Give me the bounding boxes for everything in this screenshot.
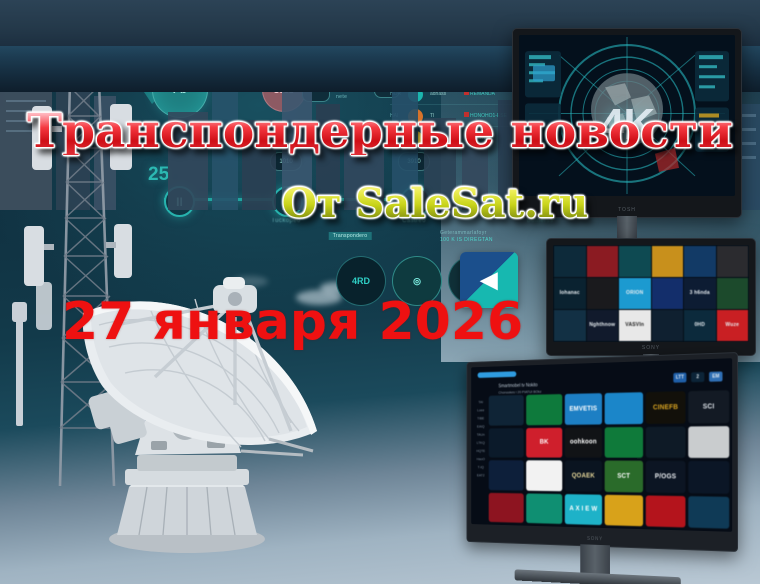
channel-logo-tile[interactable] <box>587 246 619 277</box>
tv-ui-pill <box>478 371 517 378</box>
tv-ui-header: Smartmobel tv Nokito Chonookes i 20 PIAT… <box>474 361 728 393</box>
tv-rail-item[interactable]: EAIQ <box>477 424 485 429</box>
tv-brand-label: SONY <box>642 345 660 351</box>
tv-rail-item[interactable]: HaoO <box>477 457 485 462</box>
tv-mid-display: IohanacORION3 h6ndaNghthnowVASVIn0HDWuze… <box>546 238 756 356</box>
tv-status-icon: EM <box>709 371 722 381</box>
tv-main-display: Smartmobel tv Nokito Chonookes i 20 PIAT… <box>466 352 738 552</box>
channel-logo-tile[interactable] <box>587 278 619 309</box>
channel-logo-tile[interactable]: EMVETIS <box>565 393 602 424</box>
tv-ui-headline: Smartmobel tv Nokito <box>498 383 537 390</box>
tv-brand-label: SONY <box>587 536 603 542</box>
channel-logo-tile[interactable] <box>688 426 729 458</box>
channel-logo-tile[interactable] <box>554 246 586 277</box>
channel-logo-tile[interactable]: 0HD <box>684 310 716 341</box>
channel-logo-tile[interactable] <box>688 496 729 529</box>
channel-logo-grid: IohanacORION3 h6ndaNghthnowVASVIn0HDWuze <box>553 245 749 342</box>
tv-rail-item[interactable]: HQTE <box>476 448 485 453</box>
banner-image: Fb 1012 ● ▲ A-1901-02 LEGIUM nete - 2 - … <box>0 0 760 584</box>
channel-logo-tile[interactable]: VASVIn <box>619 310 651 341</box>
channel-logo-tile[interactable] <box>688 461 729 494</box>
channel-logo-tile[interactable] <box>646 426 686 458</box>
timeline-footnote-1: Geterammarlafoyr <box>440 230 487 236</box>
channel-logo-tile[interactable] <box>605 494 643 526</box>
channel-logo-tile[interactable] <box>652 278 684 309</box>
channel-logo-tile[interactable]: BK <box>526 427 562 457</box>
channel-logo-tile[interactable] <box>652 246 684 277</box>
channel-logo-tile[interactable] <box>652 310 684 341</box>
page-title: Транспондерные новости <box>0 108 760 155</box>
channel-logo-tile[interactable]: ORION <box>619 278 651 309</box>
channel-logo-tile[interactable] <box>526 394 562 425</box>
channel-logo-tile[interactable] <box>489 460 524 490</box>
tv-stand-neck <box>580 544 610 576</box>
tv-rail-item[interactable]: EAT2 <box>477 473 485 478</box>
channel-logo-tile[interactable] <box>605 392 643 424</box>
channel-logo-tile[interactable]: oohkoon <box>565 427 602 458</box>
channel-logo-tile[interactable]: SCI <box>688 390 729 423</box>
tv-rail-item[interactable]: Loee <box>477 408 484 413</box>
channel-logo-tile[interactable] <box>489 395 524 425</box>
tv-status-icon: 2 <box>691 372 704 382</box>
tv-screen: Smartmobel tv Nokito Chonookes i 20 PIAT… <box>471 358 732 532</box>
channel-logo-tile[interactable]: A X I E W <box>565 494 602 525</box>
channel-logo-tile[interactable] <box>605 426 643 457</box>
timeline-footnote-2: 100 K IS DIREGTAN <box>440 237 493 243</box>
tv-status-icon: LTT <box>673 373 686 383</box>
page-subtitle: От SaleSat.ru <box>0 184 760 224</box>
channel-logo-tile[interactable] <box>717 278 749 309</box>
tv-ui-status-icons: LTT 2 EM <box>673 371 722 382</box>
channel-logo-tile[interactable]: CINEFB <box>646 391 686 423</box>
channel-logo-tile[interactable] <box>489 492 524 522</box>
tv-channel-grid: EMVETISCINEFBSCIBKoohkoonQOAEKSCTP/OGSA … <box>489 390 730 529</box>
channel-logo-tile[interactable]: Nghthnow <box>587 310 619 341</box>
channel-logo-tile[interactable]: 3 h6nda <box>684 278 716 309</box>
channel-logo-tile[interactable] <box>646 495 686 528</box>
tv-screen: IohanacORION3 h6ndaNghthnowVASVIn0HDWuze <box>553 245 749 342</box>
channel-logo-tile[interactable] <box>684 246 716 277</box>
channel-logo-tile[interactable] <box>526 460 562 490</box>
tv-rail-item[interactable]: TAUn <box>477 432 485 437</box>
channel-logo-tile[interactable] <box>717 246 749 277</box>
channel-logo-tile[interactable]: Iohanac <box>554 278 586 309</box>
channel-logo-tile[interactable] <box>554 310 586 341</box>
channel-logo-tile[interactable] <box>526 493 562 524</box>
tv-ui-sidebar-rail[interactable]: TAILoeeTIBEEAIQTAUnLTKQHQTEHaoOT-IQEAT2 <box>474 396 487 521</box>
page-date: 27 января 2026 <box>62 296 523 348</box>
tv-rail-item[interactable]: TAI <box>478 400 483 405</box>
channel-logo-tile[interactable]: SCT <box>605 461 643 492</box>
channel-logo-tile[interactable]: QOAEK <box>565 460 602 491</box>
channel-logo-tile[interactable]: Wuze <box>717 310 749 341</box>
tv-rail-item[interactable]: TIBE <box>477 416 484 421</box>
channel-logo-tile[interactable]: P/OGS <box>646 461 686 493</box>
channel-logo-tile[interactable] <box>489 428 524 458</box>
timeline-link[interactable]: Transpondero <box>329 232 372 240</box>
channel-logo-tile[interactable] <box>619 246 651 277</box>
tv-rail-item[interactable]: T-IQ <box>478 465 484 470</box>
channel-badge-card-glyph: ◀ <box>481 267 498 293</box>
tv-rail-item[interactable]: LTKQ <box>477 440 485 445</box>
